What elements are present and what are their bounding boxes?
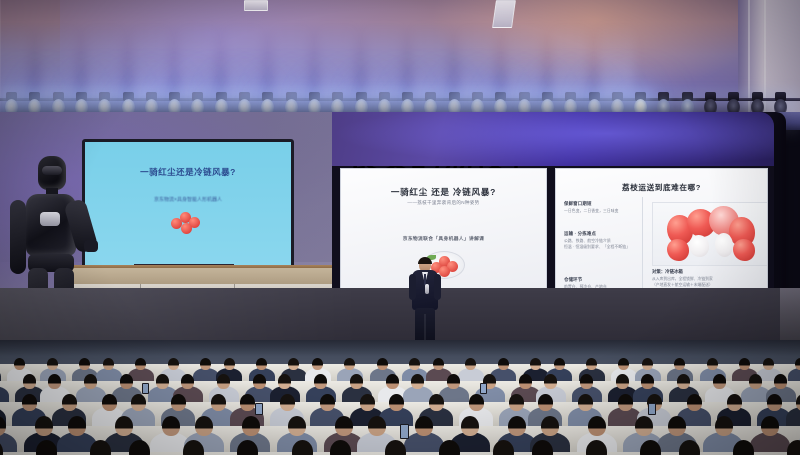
audience-head (580, 374, 593, 389)
bullet-heading-2: 运输 · 分拣难点 (564, 231, 638, 237)
audience-head (578, 394, 593, 411)
audience-head (554, 358, 565, 370)
slide-left-caption: 京东物流联合「具身机器人」讲解课 (341, 235, 546, 242)
audience-head (586, 358, 597, 370)
tv-subtitle-text: 京东物流×具身智能人形机器人 (85, 196, 291, 203)
audience-phone (480, 383, 486, 394)
bullet-section-2: 运输 · 分拣难点 公路、铁路、航空冷链介质 恒温 · 恒湿级别要求、「全程不断… (564, 231, 638, 250)
audience-head (677, 374, 690, 389)
audience-head (532, 440, 553, 455)
bullet-row-1-1: 一日色变，二日香变，三日味变 (564, 209, 638, 215)
audience-head (687, 394, 702, 411)
audience-head (386, 374, 399, 389)
light-beam-3 (41, 24, 75, 102)
audience-head (411, 374, 424, 389)
slide-left-title: 一骑红尘 还是 冷链风暴? (341, 186, 546, 198)
audience-head (68, 416, 86, 436)
presenter-right-arm (434, 274, 441, 300)
audience-head (240, 394, 255, 411)
light-beam-5 (87, 24, 121, 102)
ceiling-vent-left (244, 0, 268, 11)
audience-head (727, 394, 742, 411)
audience-head (115, 416, 133, 436)
audience-head (211, 394, 226, 411)
audience-head (616, 374, 629, 389)
photo-caption-block: 对策：冷链冰箱 从入库到出库，全程锁鲜、冷链到家 （产地直发＋航空运输＋末端配送… (652, 269, 768, 288)
audience-head (439, 440, 460, 455)
audience-head (200, 358, 211, 370)
audience-head (715, 416, 733, 436)
lychee-photo (652, 202, 768, 266)
audience-head (385, 440, 406, 455)
audience-head (377, 358, 388, 370)
lychee-5 (733, 239, 755, 261)
light-beam-1 (0, 24, 28, 102)
audience-head (181, 374, 194, 389)
audience-head (168, 358, 179, 370)
audience-shadow (0, 340, 800, 356)
audience-head (84, 374, 97, 389)
audience-head (292, 440, 313, 455)
audience-head (707, 358, 718, 370)
presenter-left-arm (409, 274, 416, 300)
light-beam-23 (507, 24, 541, 102)
audience-head (312, 358, 323, 370)
audience-head (256, 358, 267, 370)
audience-phone (400, 424, 409, 439)
audience-head (787, 440, 800, 455)
audience-head (288, 416, 306, 436)
audience-head (749, 374, 762, 389)
audience-head (761, 416, 779, 436)
light-beam-17 (367, 24, 401, 102)
slide-right-title: 荔枝运送到底难在哪? (556, 182, 767, 193)
light-beam-27 (600, 24, 634, 102)
audience-head (447, 374, 460, 389)
slide-left-subtitle: ——荔枝千里奔袭背后的N种姿势 (341, 200, 546, 206)
robot-right-hand (84, 240, 98, 252)
lychee-flesh-2 (715, 233, 733, 257)
audience-head (131, 394, 146, 411)
audience-head (171, 394, 186, 411)
audience-phone (648, 403, 656, 416)
audience-head (368, 416, 386, 436)
audience-head (618, 394, 633, 411)
robot-visor (42, 166, 62, 175)
audience-head (162, 416, 180, 436)
audience-head (668, 416, 686, 436)
robot-chest-plate (40, 212, 60, 226)
audience-head (642, 358, 653, 370)
audience-head (242, 416, 260, 436)
audience-head (415, 416, 433, 436)
audience (0, 340, 800, 455)
audience-head (429, 394, 444, 411)
video-tv-display: 一骑红尘还是冷链风暴? 京东物流×具身智能人形机器人 (82, 139, 294, 270)
audience-head (774, 374, 787, 389)
robot-left-arm (10, 200, 26, 274)
audience-head (35, 416, 53, 436)
audience-head (314, 374, 327, 389)
presenter-hair (418, 257, 432, 264)
light-beam-7 (134, 24, 168, 102)
audience-head (22, 394, 37, 411)
bullet-heading-1: 保鲜窗口期短 (564, 201, 638, 207)
bullet-heading-3: 仓储环节 (564, 277, 638, 283)
conference-stage-photo: 一骑红尘还是冷链风暴? 京东物流×具身智能人形机器人 (0, 0, 800, 455)
light-beam-13 (274, 24, 308, 102)
audience-head (544, 374, 557, 389)
light-beam-11 (227, 24, 261, 102)
audience-phone (255, 403, 263, 416)
audience-head (335, 416, 353, 436)
audience-head (120, 374, 133, 389)
presenter (408, 258, 442, 346)
audience-head (469, 394, 484, 411)
stage-floor-sheen (0, 288, 800, 346)
audience-phone (142, 383, 148, 394)
slide-header-glow (332, 112, 774, 166)
audience-head (320, 394, 335, 411)
lychee-flesh-1 (689, 235, 709, 257)
audience-head (156, 374, 169, 389)
light-beam-9 (180, 24, 214, 102)
audience-head (280, 394, 295, 411)
photo-caption-heading: 对策：冷链冰箱 (652, 269, 768, 275)
audience-head (796, 394, 800, 411)
audience-head (508, 416, 526, 436)
audience-head (217, 374, 230, 389)
audience-head (795, 358, 800, 370)
audience-head (224, 358, 235, 370)
tv-title-text: 一骑红尘还是冷链风暴? (85, 166, 291, 178)
tv-lychee-graphic (171, 210, 205, 236)
tv-screen-surface (85, 142, 291, 267)
audience-head (713, 374, 726, 389)
audience-head (519, 374, 532, 389)
audience-head (461, 416, 479, 436)
light-beam-19 (413, 24, 447, 102)
audience-head (350, 374, 363, 389)
audience-head (47, 358, 58, 370)
audience-head (588, 416, 606, 436)
light-beam-25 (553, 24, 587, 102)
light-beam-21 (460, 24, 494, 102)
audience-head (767, 394, 782, 411)
audience-head (195, 416, 213, 436)
audience-head (641, 374, 654, 389)
audience-head (360, 394, 375, 411)
bullet-row-2-2: 恒温 · 恒湿级别要求、「全程不断链」 (564, 245, 638, 251)
audience-head (541, 416, 559, 436)
light-beam-15 (320, 24, 354, 102)
audience-head (23, 374, 36, 389)
lychee-4 (667, 239, 689, 261)
audience-head (103, 358, 114, 370)
audience-head (538, 394, 553, 411)
audience-head (389, 394, 404, 411)
audience-head (509, 394, 524, 411)
audience-head (498, 358, 509, 370)
audience-head (635, 416, 653, 436)
audience-head (763, 358, 774, 370)
microphone (425, 284, 429, 294)
audience-head (433, 358, 444, 370)
audience-head (530, 358, 541, 370)
audience-head (102, 394, 117, 411)
bullet-section-1: 保鲜窗口期短 一日色变，二日香变，三日味变 (564, 201, 638, 215)
audience-head (253, 374, 266, 389)
audience-head (48, 374, 61, 389)
audience-head (278, 374, 291, 389)
audience-head (62, 394, 77, 411)
